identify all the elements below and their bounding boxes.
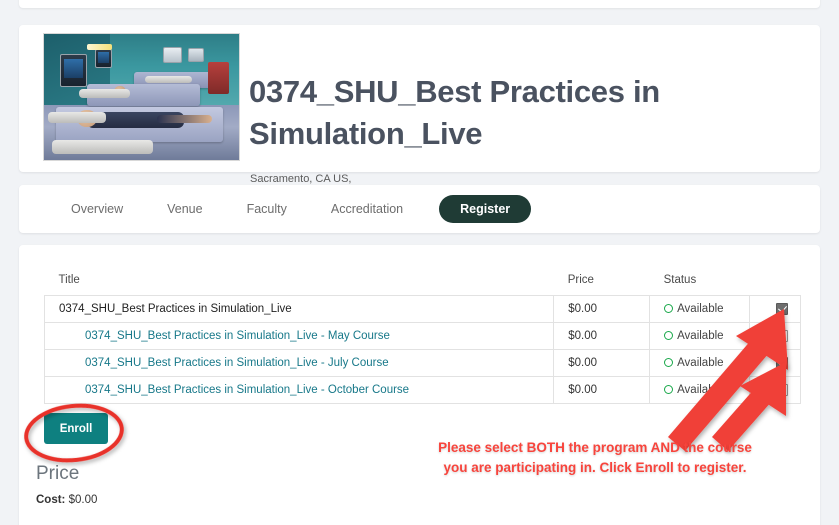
previous-card-stub xyxy=(19,0,820,8)
column-header-status: Status xyxy=(650,274,750,296)
cell-price: $0.00 xyxy=(554,296,650,323)
cell-title-course-october: 0374_SHU_Best Practices in Simulation_Li… xyxy=(45,377,554,404)
column-header-title: Title xyxy=(45,274,554,296)
tab-bar: Overview Venue Faculty Accreditation Reg… xyxy=(49,185,531,233)
bed-rail-mid xyxy=(79,89,130,98)
course-header-card: 0374_SHU_Best Practices in Simulation_Li… xyxy=(19,25,820,172)
cost-label: Cost: xyxy=(36,494,65,506)
tab-accreditation[interactable]: Accreditation xyxy=(309,196,425,222)
patient-monitor-1 xyxy=(60,54,87,87)
tab-faculty[interactable]: Faculty xyxy=(225,196,309,222)
cell-status: Available xyxy=(650,350,750,377)
table-body: 0374_SHU_Best Practices in Simulation_Li… xyxy=(45,296,801,404)
status-badge: Available xyxy=(677,384,723,396)
table-header: Title Price Status xyxy=(45,274,801,296)
table-row: 0374_SHU_Best Practices in Simulation_Li… xyxy=(45,323,801,350)
course-link-july[interactable]: 0374_SHU_Best Practices in Simulation_Li… xyxy=(59,357,389,369)
cell-status: Available xyxy=(650,323,750,350)
price-section-heading: Price xyxy=(36,463,79,485)
manikin-arm xyxy=(157,115,212,124)
registration-table: Title Price Status 0374_SHU_Best Practic… xyxy=(44,274,801,404)
tab-bar-card: Overview Venue Faculty Accreditation Reg… xyxy=(19,185,820,233)
ceiling-lamp xyxy=(87,44,112,50)
table-row: 0374_SHU_Best Practices in Simulation_Li… xyxy=(45,377,801,404)
simulation-lab-photo xyxy=(44,34,239,160)
status-badge: Available xyxy=(677,303,723,315)
cell-title-program: 0374_SHU_Best Practices in Simulation_Li… xyxy=(45,296,554,323)
course-link-may[interactable]: 0374_SHU_Best Practices in Simulation_Li… xyxy=(59,330,390,342)
available-circle-icon xyxy=(664,358,673,367)
monitor-screen xyxy=(64,59,83,77)
table-row: 0374_SHU_Best Practices in Simulation_Li… xyxy=(45,350,801,377)
price-cost-line: Cost: $0.00 xyxy=(36,494,97,506)
cell-price: $0.00 xyxy=(554,350,650,377)
tab-overview[interactable]: Overview xyxy=(49,196,145,222)
page-title: 0374_SHU_Best Practices in Simulation_Li… xyxy=(249,71,729,155)
status-badge: Available xyxy=(677,357,723,369)
enroll-button[interactable]: Enroll xyxy=(44,413,108,444)
table-row: 0374_SHU_Best Practices in Simulation_Li… xyxy=(45,296,801,323)
patient-monitor-4 xyxy=(188,48,204,62)
available-circle-icon xyxy=(664,304,673,313)
cell-title-course-may: 0374_SHU_Best Practices in Simulation_Li… xyxy=(45,323,554,350)
cell-price: $0.00 xyxy=(554,377,650,404)
patient-monitor-2 xyxy=(95,49,113,68)
table-header-row: Title Price Status xyxy=(45,274,801,296)
bed-rail-far xyxy=(145,76,192,84)
available-circle-icon xyxy=(664,331,673,340)
bed-rail-front xyxy=(52,140,153,154)
select-checkbox-may[interactable] xyxy=(776,330,788,342)
cell-price: $0.00 xyxy=(554,323,650,350)
monitor-screen xyxy=(98,52,110,62)
cost-value: $0.00 xyxy=(69,494,98,506)
select-checkbox-july[interactable] xyxy=(776,357,788,369)
course-link-october[interactable]: 0374_SHU_Best Practices in Simulation_Li… xyxy=(59,384,409,396)
patient-monitor-3 xyxy=(163,47,183,63)
cell-select[interactable] xyxy=(750,296,801,323)
column-header-price: Price xyxy=(554,274,650,296)
select-checkbox-october[interactable] xyxy=(776,384,788,396)
cell-select[interactable] xyxy=(750,350,801,377)
course-thumbnail-image xyxy=(43,33,240,161)
supply-cart xyxy=(208,62,229,95)
cell-select[interactable] xyxy=(750,377,801,404)
status-badge: Available xyxy=(677,330,723,342)
tab-venue[interactable]: Venue xyxy=(145,196,224,222)
course-location: Sacramento, CA US, xyxy=(250,173,352,185)
tab-register[interactable]: Register xyxy=(439,195,531,223)
select-checkbox-program[interactable] xyxy=(776,303,788,315)
bed-rail-left xyxy=(48,112,107,123)
cell-select[interactable] xyxy=(750,323,801,350)
cell-title-course-july: 0374_SHU_Best Practices in Simulation_Li… xyxy=(45,350,554,377)
cell-status: Available xyxy=(650,377,750,404)
column-header-select xyxy=(750,274,801,296)
cell-status: Available xyxy=(650,296,750,323)
registration-content-card: Title Price Status 0374_SHU_Best Practic… xyxy=(19,245,820,525)
available-circle-icon xyxy=(664,385,673,394)
